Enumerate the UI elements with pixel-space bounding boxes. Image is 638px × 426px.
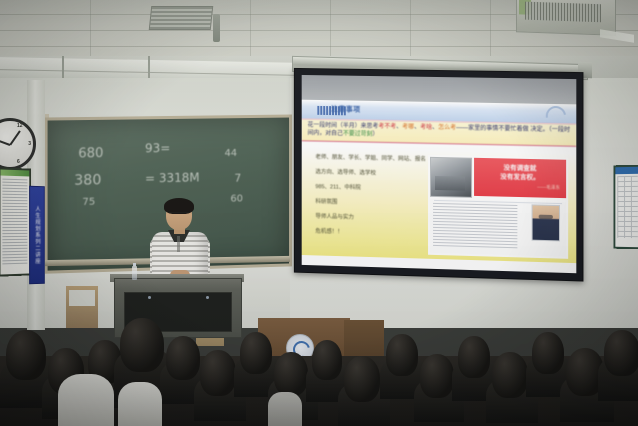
slide-bullet-4: 科研氛围 <box>315 199 422 209</box>
ceiling-light-icon <box>600 29 634 42</box>
audience-head <box>492 352 528 398</box>
quote-line-2: 没有发言权。 <box>500 173 539 183</box>
chalk-text-3: 44 <box>225 148 238 159</box>
seated-audience <box>0 296 638 426</box>
chalk-text-1: 680 <box>78 146 103 162</box>
audience-white-shirt-1 <box>58 374 114 426</box>
vertical-banner: 人生规划系列二讲座 <box>29 186 45 284</box>
lead-hl-2: 考哪 <box>402 124 414 130</box>
chalk-text-7: 75 <box>82 197 95 208</box>
lead-text-2: ——家里的事情不要忙着做 <box>456 125 529 132</box>
framed-notice-poster <box>0 167 31 276</box>
newspaper-photo-image <box>430 157 472 198</box>
audience-head <box>120 318 164 372</box>
audience-head <box>386 334 418 376</box>
audience-head <box>274 352 308 396</box>
banner-text: 人生规划系列二讲座 <box>33 206 41 265</box>
water-bottle <box>132 266 137 280</box>
slide-title: 注意事项 <box>331 104 361 114</box>
projection-surface: 注意事项 花一段时间（半月）来思考考不考、考哪、考啥、怎么考——家里的事情不要忙… <box>302 75 577 273</box>
slide-media-column: 没有调查就 没有发言权。 ——毛泽东 <box>428 155 568 259</box>
ceiling-fixture-icon <box>213 14 220 42</box>
projection-screen: 注意事项 花一段时间（半月）来思考考不考、考哪、考啥、怎么考——家里的事情不要忙… <box>294 68 584 282</box>
chalk-text-5: = 3318M <box>145 170 200 185</box>
clock-minute-hand <box>9 130 20 145</box>
quote-signature: ——毛泽东 <box>537 183 560 193</box>
audience-head <box>166 336 200 380</box>
speaker-placket <box>177 236 180 252</box>
slide-bullet-2: 选方向、选导师、选学校 <box>315 169 422 178</box>
slide-lead-text: 花一段时间（半月）来思考考不考、考哪、考啥、怎么考——家里的事情不要忙着做 决定… <box>302 118 577 146</box>
audience-head <box>458 336 490 378</box>
chalk-text-2: 93= <box>145 141 170 155</box>
audience-head <box>6 330 46 380</box>
slide-bullet-5: 导师人品与实力 <box>315 214 422 224</box>
slide-bullet-3: 985、211、中科院 <box>315 184 422 194</box>
slide-bullet-6: 危机感！！ <box>315 229 422 239</box>
slide-bullet-1: 老师、朋友、学长、学姐、同学、网站、报名 <box>315 154 422 163</box>
ceiling <box>0 0 638 62</box>
slide-body: 老师、朋友、学长、学姐、同学、网站、报名选方向、选导师、选学校985、211、中… <box>302 148 577 263</box>
lead-text-1: 花一段时间（半月）来思考 <box>308 123 379 130</box>
audience-head <box>200 350 236 396</box>
chalk-text-6: 7 <box>234 172 241 185</box>
ceiling-vent-icon <box>149 6 214 30</box>
article-clipping <box>430 199 566 257</box>
audience-head <box>604 330 638 376</box>
audience-head <box>420 354 454 398</box>
lead-hl-4: 怎么考 <box>438 125 456 131</box>
audience-head <box>344 356 380 402</box>
lead-hl-3: 考啥 <box>420 125 432 131</box>
chalk-text-4: 380 <box>74 172 101 189</box>
audience-white-shirt-3 <box>268 392 302 426</box>
lead-hl-5: 不要过苛刻 <box>343 131 373 138</box>
speaker-glasses-icon <box>169 212 189 217</box>
lead-hl-1: 考不考 <box>378 124 396 130</box>
lecture-hall-photo: 68093=44380= 3318M77560 注意事项 花一段时间（半月）来思… <box>0 0 638 426</box>
article-text-block <box>433 203 517 249</box>
audience-white-shirt-2 <box>118 382 162 426</box>
red-quote-banner: 没有调查就 没有发言权。 ——毛泽东 <box>474 158 566 198</box>
framed-schedule-notice <box>613 165 638 250</box>
audience-head <box>532 332 564 374</box>
slide-bullet-list: 老师、朋友、学长、学姐、同学、网站、报名选方向、选导师、选学校985、211、中… <box>315 154 422 238</box>
audience-head <box>312 340 342 380</box>
chalk-text-8: 60 <box>230 193 243 204</box>
audience-head <box>240 332 272 374</box>
presentation-slide: 注意事项 花一段时间（半月）来思考考不考、考哪、考啥、怎么考——家里的事情不要忙… <box>302 100 577 274</box>
lead-text-4: ） <box>372 132 378 138</box>
portrait-photo-image <box>532 204 560 241</box>
